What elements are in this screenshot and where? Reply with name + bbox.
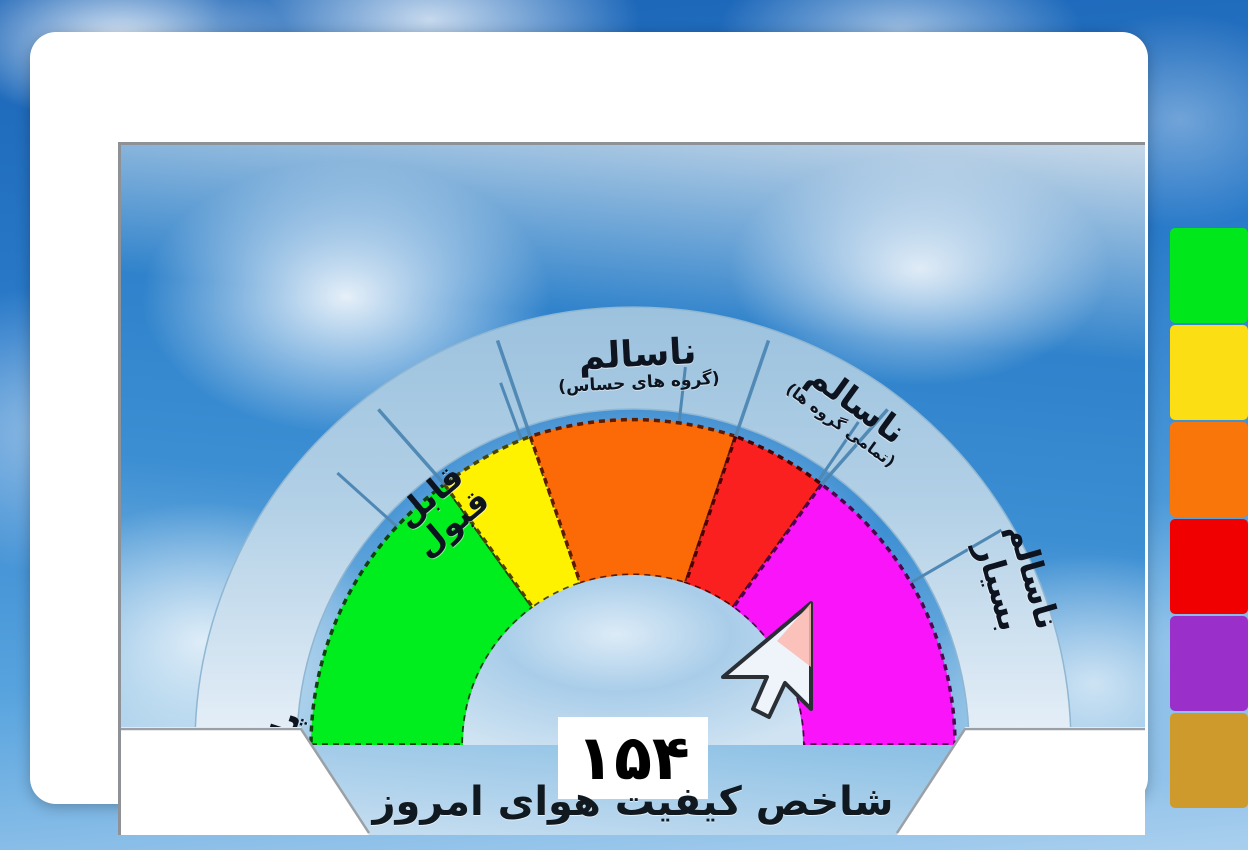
- purple-swatch: [1170, 616, 1248, 711]
- aqi-gauge: [121, 145, 1145, 745]
- gold-swatch: [1170, 713, 1248, 808]
- color-legend-swatches: [1170, 228, 1248, 810]
- mouse-cursor-icon: [715, 597, 819, 723]
- green-swatch: [1170, 228, 1248, 323]
- red-swatch: [1170, 519, 1248, 614]
- card-frame: پاک قابل قبول ناسالم (گروه های حساس) ناس…: [30, 32, 1148, 804]
- aqi-panel: پاک قابل قبول ناسالم (گروه های حساس) ناس…: [118, 142, 1145, 835]
- orange-swatch: [1170, 422, 1248, 517]
- page-title: شاخص کیفیت هوای امروز: [121, 779, 1145, 825]
- gauge-label-unhealthy-sensitive: ناسالم (گروه های حساس): [532, 332, 745, 398]
- yellow-swatch: [1170, 325, 1248, 420]
